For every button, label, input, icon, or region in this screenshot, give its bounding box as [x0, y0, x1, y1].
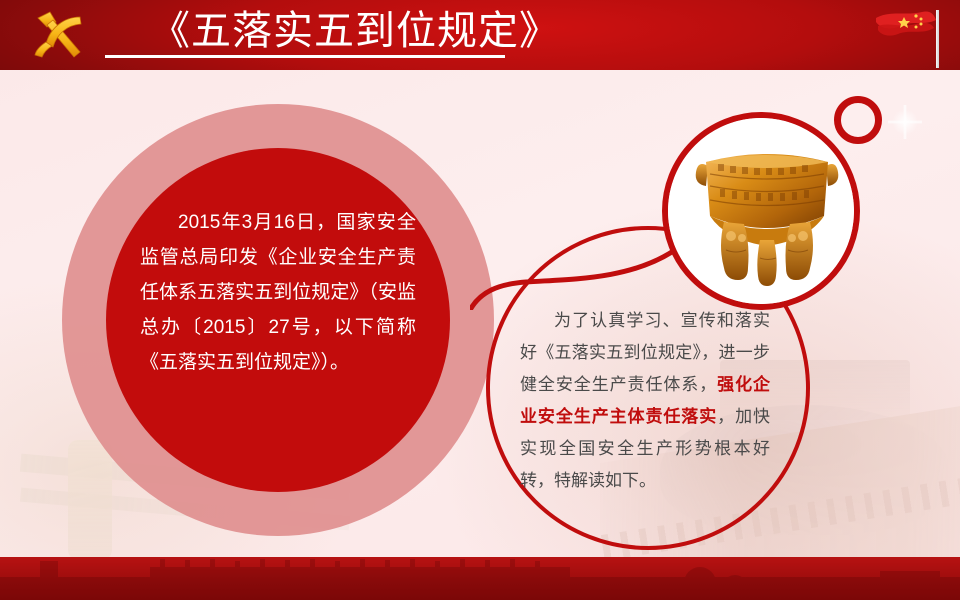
party-emblem-hammer-sickle-icon	[20, 8, 104, 62]
small-ring-decoration	[834, 96, 882, 144]
right-circle-text: 为了认真学习、宣传和落实好《五落实五到位规定》，进一步健全安全生产责任体系，强化…	[520, 305, 770, 497]
sparkle-icon	[888, 105, 922, 139]
china-flag-icon	[872, 8, 946, 70]
left-circle-text: 2015年3月16日，国家安全监管总局印发《企业安全生产责任体系五落实五到位规定…	[140, 205, 416, 380]
page-title: 《五落实五到位规定》	[150, 6, 560, 56]
slide-header: 《五落实五到位规定》	[0, 0, 960, 70]
slide-footer	[0, 557, 960, 600]
tiananmen-silhouette-icon	[0, 557, 960, 600]
presentation-slide: 《五落实五到位规定》	[0, 0, 960, 600]
bronze-ding-tripod-cauldron-icon	[668, 118, 854, 304]
photo-circle-frame	[662, 112, 860, 310]
